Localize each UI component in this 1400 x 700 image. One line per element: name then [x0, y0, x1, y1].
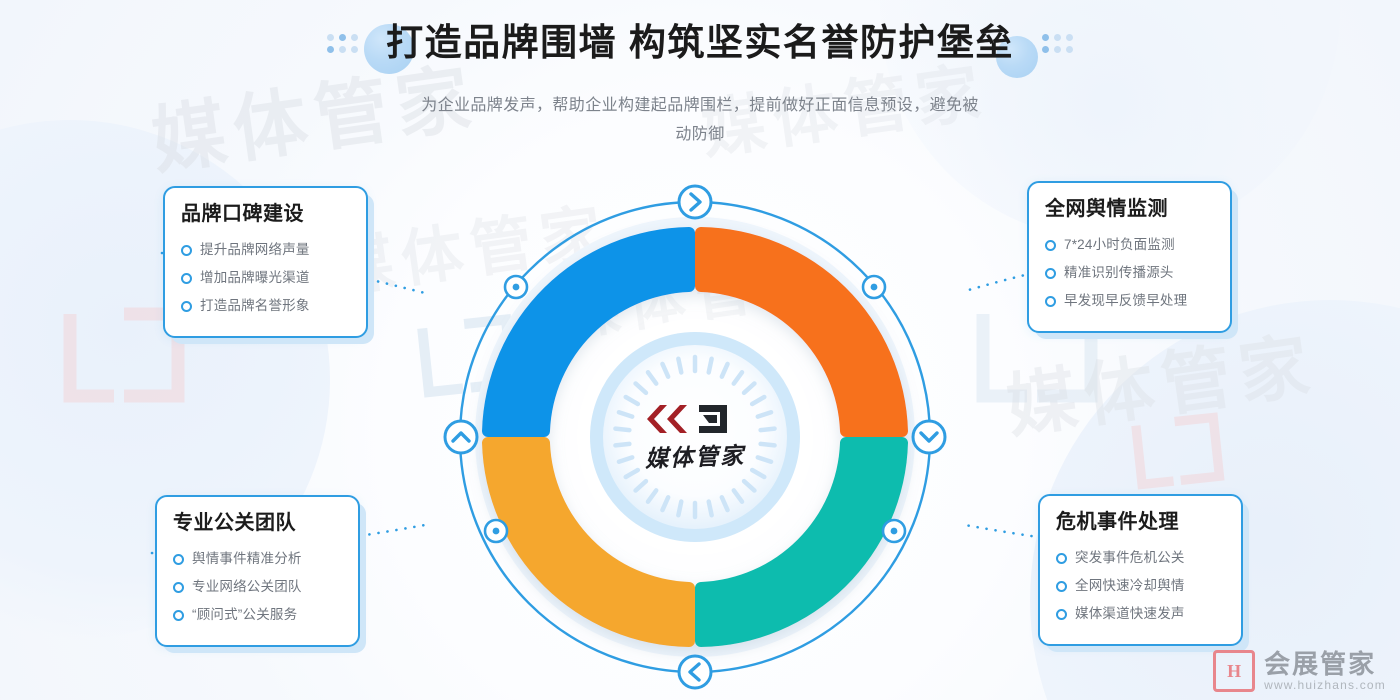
bullet-icon — [1056, 609, 1067, 620]
bullet-icon — [1056, 581, 1067, 592]
list-item: 舆情事件精准分析 — [173, 545, 342, 573]
brand-name: 会展管家 — [1264, 651, 1386, 678]
list-item: 全网快速冷却舆情 — [1056, 572, 1225, 600]
ring-marker-bottom — [679, 656, 711, 688]
brand-text: 会展管家 www.huizhans.com — [1264, 651, 1386, 692]
list-item-label: 专业网络公关团队 — [192, 578, 302, 596]
donut-diagram: 媒体管家 — [420, 165, 970, 685]
bullet-icon — [181, 245, 192, 256]
list-item-label: 舆情事件精准分析 — [192, 550, 302, 568]
card-public-opinion-monitor[interactable]: 全网舆情监测 7*24小时负面监测 精准识别传播源头 早发现早反馈早处理 — [1027, 181, 1232, 333]
bracket-watermark-icon — [1122, 406, 1238, 500]
card-crisis-handling[interactable]: 危机事件处理 突发事件危机公关 全网快速冷却舆情 媒体渠道快速发声 — [1038, 494, 1243, 646]
list-item-label: 全网快速冷却舆情 — [1075, 577, 1185, 595]
bullet-icon — [1045, 240, 1056, 251]
bullet-icon — [1056, 553, 1067, 564]
title-row: 打造品牌围墙 构筑坚实名誉防护堡垒 — [0, 22, 1400, 65]
list-item: 增加品牌曝光渠道 — [181, 264, 350, 292]
list-item-label: 增加品牌曝光渠道 — [200, 269, 310, 287]
card-pr-team[interactable]: 专业公关团队 舆情事件精准分析 专业网络公关团队 “顾问式”公关服务 — [155, 495, 360, 647]
list-item: 提升品牌网络声量 — [181, 236, 350, 264]
ring-marker-right — [913, 421, 945, 453]
list-item: 7*24小时负面监测 — [1045, 231, 1214, 259]
brand-footer[interactable]: 会展管家 www.huizhans.com — [1213, 650, 1386, 692]
card-brand-reputation[interactable]: 品牌口碑建设 提升品牌网络声量 增加品牌曝光渠道 打造品牌名誉形象 — [163, 186, 368, 338]
card-title: 品牌口碑建设 — [181, 202, 350, 226]
huizhans-logo-icon — [1213, 650, 1255, 692]
dot-grid-right-icon — [1042, 34, 1073, 53]
list-item: 精准识别传播源头 — [1045, 259, 1214, 287]
bullet-icon — [1045, 296, 1056, 307]
ring-marker-left — [445, 421, 477, 453]
list-item-label: “顾问式”公关服务 — [192, 606, 297, 624]
card-item-list: 7*24小时负面监测 精准识别传播源头 早发现早反馈早处理 — [1045, 231, 1214, 316]
dot-grid-left-icon — [327, 34, 358, 53]
bullet-icon — [173, 582, 184, 593]
list-item-label: 提升品牌网络声量 — [200, 241, 310, 259]
list-item: 打造品牌名誉形象 — [181, 292, 350, 320]
bullet-icon — [173, 610, 184, 621]
page-subtitle: 为企业品牌发声，帮助企业构建起品牌围栏，提前做好正面信息预设，避免被动防御 — [420, 91, 980, 150]
bullet-icon — [181, 273, 192, 284]
list-item: 专业网络公关团队 — [173, 573, 342, 601]
bullet-icon — [173, 554, 184, 565]
list-item-label: 精准识别传播源头 — [1064, 264, 1174, 282]
card-title: 危机事件处理 — [1056, 510, 1225, 534]
bullet-icon — [181, 301, 192, 312]
infographic-canvas: 媒体管家 媒体管家 媒体管家 媒体管家 媒体管家 — [0, 0, 1400, 700]
list-item-label: 7*24小时负面监测 — [1064, 236, 1175, 254]
list-item-label: 突发事件危机公关 — [1075, 549, 1185, 567]
card-item-list: 突发事件危机公关 全网快速冷却舆情 媒体渠道快速发声 — [1056, 544, 1225, 629]
bullet-icon — [1045, 268, 1056, 279]
title-wrap: 打造品牌围墙 构筑坚实名誉防护堡垒 — [372, 22, 1028, 65]
ring-marker-top — [679, 186, 711, 218]
list-item-label: 媒体渠道快速发声 — [1075, 605, 1185, 623]
list-item: 媒体渠道快速发声 — [1056, 600, 1225, 628]
card-title: 专业公关团队 — [173, 511, 342, 535]
card-item-list: 提升品牌网络声量 增加品牌曝光渠道 打造品牌名誉形象 — [181, 236, 350, 321]
list-item: 突发事件危机公关 — [1056, 544, 1225, 572]
page-title: 打造品牌围墙 构筑坚实名誉防护堡垒 — [386, 22, 1014, 65]
card-title: 全网舆情监测 — [1045, 197, 1214, 221]
list-item: “顾问式”公关服务 — [173, 601, 342, 629]
card-item-list: 舆情事件精准分析 专业网络公关团队 “顾问式”公关服务 — [173, 545, 342, 630]
brand-url: www.huizhans.com — [1264, 679, 1386, 692]
list-item: 早发现早反馈早处理 — [1045, 287, 1214, 315]
list-item-label: 早发现早反馈早处理 — [1064, 292, 1187, 310]
page-header: 打造品牌围墙 构筑坚实名誉防护堡垒 为企业品牌发声，帮助企业构建起品牌围栏，提前… — [0, 0, 1400, 150]
list-item-label: 打造品牌名誉形象 — [200, 297, 310, 315]
